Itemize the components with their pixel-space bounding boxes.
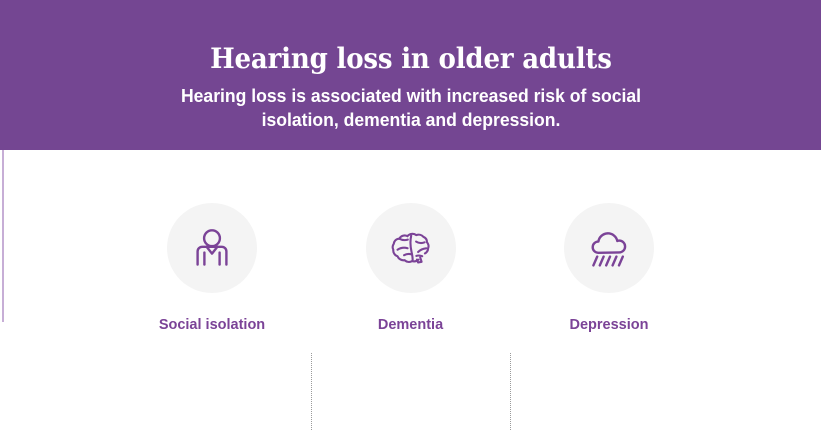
risk-card-label: Social isolation	[159, 316, 265, 334]
risk-card-label: Depression	[570, 316, 649, 334]
body-area: Social isolation	[0, 150, 821, 431]
risk-card-label: Dementia	[378, 316, 443, 334]
infographic-root: Hearing loss in older adults Hearing los…	[0, 0, 821, 431]
risk-card-dementia: Dementia	[312, 203, 510, 334]
brain-icon	[387, 224, 435, 272]
icon-circle-social-isolation	[167, 203, 257, 293]
icon-circle-dementia	[366, 203, 456, 293]
person-icon	[189, 225, 235, 271]
risk-cards: Social isolation	[113, 203, 708, 375]
risk-card-depression: Depression	[510, 203, 708, 334]
risk-card-social-isolation: Social isolation	[113, 203, 311, 334]
header-band: Hearing loss in older adults Hearing los…	[0, 0, 821, 150]
page-title: Hearing loss in older adults	[210, 42, 612, 76]
rain-cloud-icon	[584, 224, 634, 272]
icon-circle-depression	[564, 203, 654, 293]
page-subtitle: Hearing loss is associated with increase…	[159, 84, 663, 132]
